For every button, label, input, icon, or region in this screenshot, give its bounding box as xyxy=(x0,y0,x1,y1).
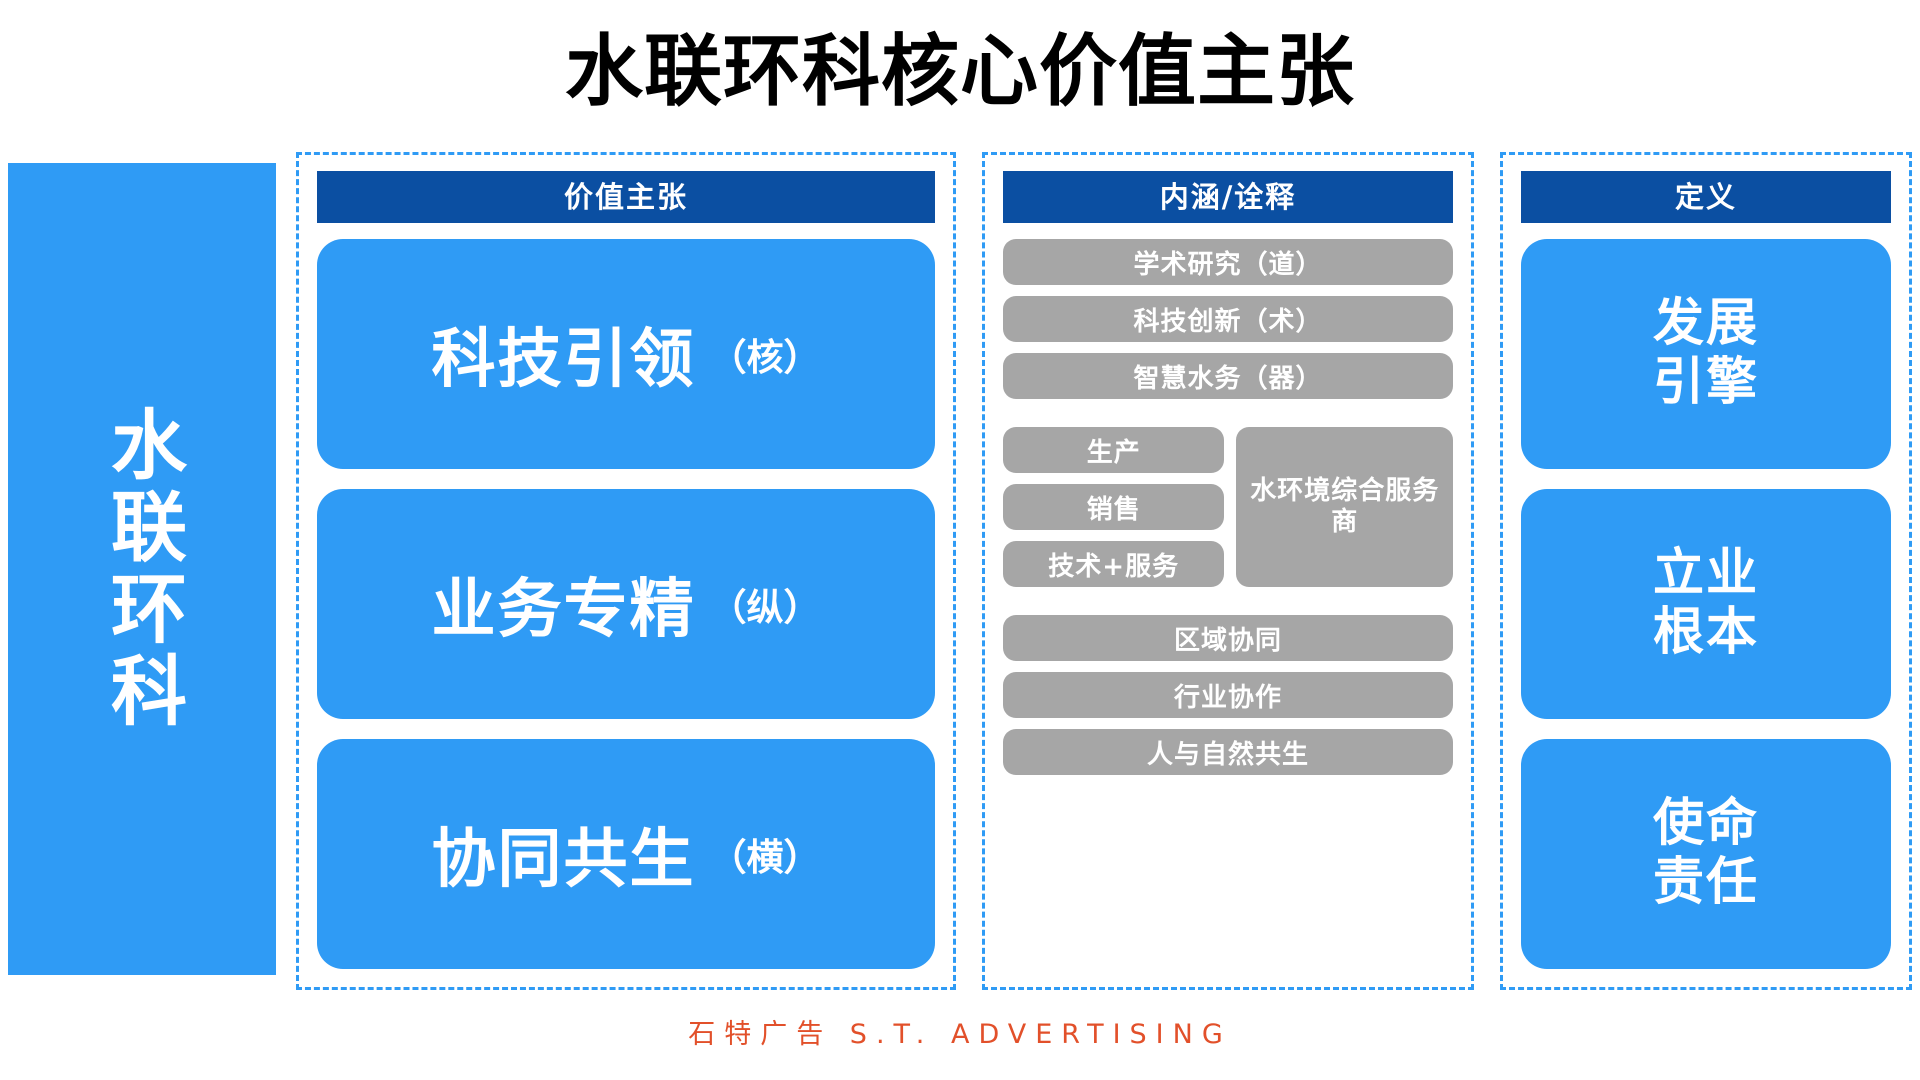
page-title: 水联环科核心价值主张 xyxy=(0,22,1920,122)
definition-list: 发展 引擎 立业 根本 使命 责任 xyxy=(1521,239,1891,969)
column-value-proposition: 价值主张 科技引领 （核） 业务专精 （纵） 协同共生 （横） xyxy=(296,152,956,990)
value-box-3-tag: （横） xyxy=(710,827,821,881)
connotation-chip-production[interactable]: 生产 xyxy=(1003,427,1224,473)
definition-box-1[interactable]: 发展 引擎 xyxy=(1521,239,1891,469)
connotation-chip-water-env-service[interactable]: 水环境综合服务商 xyxy=(1236,427,1453,587)
brand-vertical-bar: 水联环科 xyxy=(8,163,276,975)
value-box-2-tag: （纵） xyxy=(710,577,821,631)
connotation-group-3: 区域协同 行业协作 人与自然共生 xyxy=(1003,615,1453,775)
column-header-connotation: 内涵/诠释 xyxy=(1003,171,1453,223)
connotation-chip-human-nature[interactable]: 人与自然共生 xyxy=(1003,729,1453,775)
column-definition: 定义 发展 引擎 立业 根本 使命 责任 xyxy=(1500,152,1912,990)
value-box-1-main: 科技引领 xyxy=(432,308,696,400)
connotation-chip-regional-synergy[interactable]: 区域协同 xyxy=(1003,615,1453,661)
connotation-chip-sales[interactable]: 销售 xyxy=(1003,484,1224,530)
value-box-1[interactable]: 科技引领 （核） xyxy=(317,239,935,469)
column-connotation: 内涵/诠释 学术研究（道） 科技创新（术） 智慧水务（器） 生产 销售 技术+服… xyxy=(982,152,1474,990)
brand-vertical-label: 水联环科 xyxy=(101,405,183,733)
definition-box-2[interactable]: 立业 根本 xyxy=(1521,489,1891,719)
value-box-1-tag: （核） xyxy=(710,327,821,381)
connotation-chip-industry-collab[interactable]: 行业协作 xyxy=(1003,672,1453,718)
value-box-2[interactable]: 业务专精 （纵） xyxy=(317,489,935,719)
definition-box-3[interactable]: 使命 责任 xyxy=(1521,739,1891,969)
connotation-group-2-left: 生产 销售 技术+服务 xyxy=(1003,427,1224,587)
column-header-definition: 定义 xyxy=(1521,171,1891,223)
value-box-2-main: 业务专精 xyxy=(432,558,696,650)
connotation-group-2: 生产 销售 技术+服务 水环境综合服务商 xyxy=(1003,427,1453,587)
value-box-3[interactable]: 协同共生 （横） xyxy=(317,739,935,969)
value-box-3-main: 协同共生 xyxy=(432,808,696,900)
connotation-group-1: 学术研究（道） 科技创新（术） 智慧水务（器） xyxy=(1003,239,1453,399)
connotation-chip-tech-service[interactable]: 技术+服务 xyxy=(1003,541,1224,587)
column-header-value-proposition: 价值主张 xyxy=(317,171,935,223)
connotation-chip-tech-innovation[interactable]: 科技创新（术） xyxy=(1003,296,1453,342)
value-proposition-list: 科技引领 （核） 业务专精 （纵） 协同共生 （横） xyxy=(317,239,935,969)
connotation-chip-academic[interactable]: 学术研究（道） xyxy=(1003,239,1453,285)
connotation-groups: 学术研究（道） 科技创新（术） 智慧水务（器） 生产 销售 技术+服务 水环境综… xyxy=(1003,239,1453,969)
connotation-chip-smart-water[interactable]: 智慧水务（器） xyxy=(1003,353,1453,399)
footer-credit: 石特广告 S.T. ADVERTISING xyxy=(0,1012,1920,1051)
slide-canvas: 水联环科核心价值主张 水联环科 价值主张 科技引领 （核） 业务专精 （纵） 协… xyxy=(0,0,1920,1080)
